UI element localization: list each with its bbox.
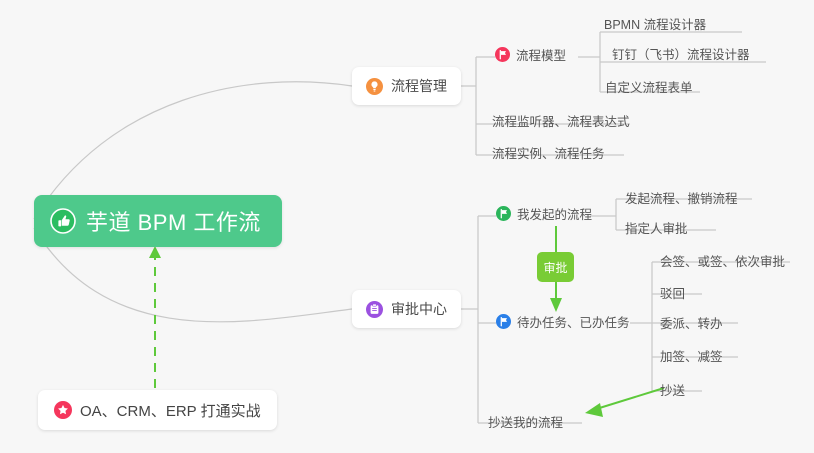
lightbulb-icon xyxy=(366,78,383,95)
sub-label-process-model: 流程模型 xyxy=(516,45,566,64)
leaf-node-start-cancel-process[interactable]: 发起流程、撤销流程 xyxy=(625,188,738,207)
flag-icon xyxy=(496,206,511,221)
leaf-node-process-instance-task[interactable]: 流程实例、流程任务 xyxy=(492,143,605,162)
branch-node-process-management[interactable]: 流程管理 xyxy=(352,67,461,105)
leaf-node-dingtalk-feishu-designer[interactable]: 钉钉（飞书）流程设计器 xyxy=(612,44,750,63)
thumbs-up-icon xyxy=(50,208,76,234)
leaf-node-cc-to-me-process[interactable]: 抄送我的流程 xyxy=(488,412,563,431)
leaf-node-delegate-transfer[interactable]: 委派、转办 xyxy=(660,313,723,332)
sub-node-process-model[interactable]: 流程模型 xyxy=(495,45,566,64)
root-node[interactable]: 芋道 BPM 工作流 xyxy=(34,195,282,247)
sub-label-todo-done-tasks: 待办任务、已办任务 xyxy=(517,312,630,331)
flag-icon xyxy=(496,314,511,329)
sub-node-my-initiated-process[interactable]: 我发起的流程 xyxy=(496,204,592,223)
star-icon xyxy=(54,401,72,419)
branch-label-approval-center: 审批中心 xyxy=(391,299,447,319)
leaf-node-bpmn-designer[interactable]: BPMN 流程设计器 xyxy=(604,14,706,33)
sub-label-my-initiated-process: 我发起的流程 xyxy=(517,204,592,223)
node-label-integration-practice: OA、CRM、ERP 打通实战 xyxy=(80,400,261,421)
leaf-node-add-remove-sign[interactable]: 加签、减签 xyxy=(660,346,723,365)
leaf-node-countersign-orsign-sequential[interactable]: 会签、或签、依次审批 xyxy=(660,251,785,270)
mindmap-canvas: 芋道 BPM 工作流 流程管理 流程模型 BPMN 流程设计器 钉钉（飞书）流程… xyxy=(0,0,814,453)
root-label: 芋道 BPM 工作流 xyxy=(86,205,261,237)
integration-flow-arrow xyxy=(149,246,161,388)
leaf-node-reject[interactable]: 驳回 xyxy=(660,283,685,302)
flag-icon xyxy=(495,47,510,62)
cc-flow-arrow xyxy=(585,388,664,417)
leaf-node-carbon-copy[interactable]: 抄送 xyxy=(660,380,685,399)
sub-node-todo-done-tasks[interactable]: 待办任务、已办任务 xyxy=(496,312,630,331)
leaf-node-process-listener-expression[interactable]: 流程监听器、流程表达式 xyxy=(492,111,630,130)
branch-node-approval-center[interactable]: 审批中心 xyxy=(352,290,461,328)
leaf-node-custom-process-form[interactable]: 自定义流程表单 xyxy=(605,77,693,96)
leaf-node-assignee-approval[interactable]: 指定人审批 xyxy=(625,218,688,237)
branch-label-process-management: 流程管理 xyxy=(391,76,447,96)
approval-badge-label: 审批 xyxy=(543,259,567,276)
node-integration-practice[interactable]: OA、CRM、ERP 打通实战 xyxy=(38,390,277,430)
approval-badge[interactable]: 审批 xyxy=(537,252,574,282)
clipboard-icon xyxy=(366,301,383,318)
